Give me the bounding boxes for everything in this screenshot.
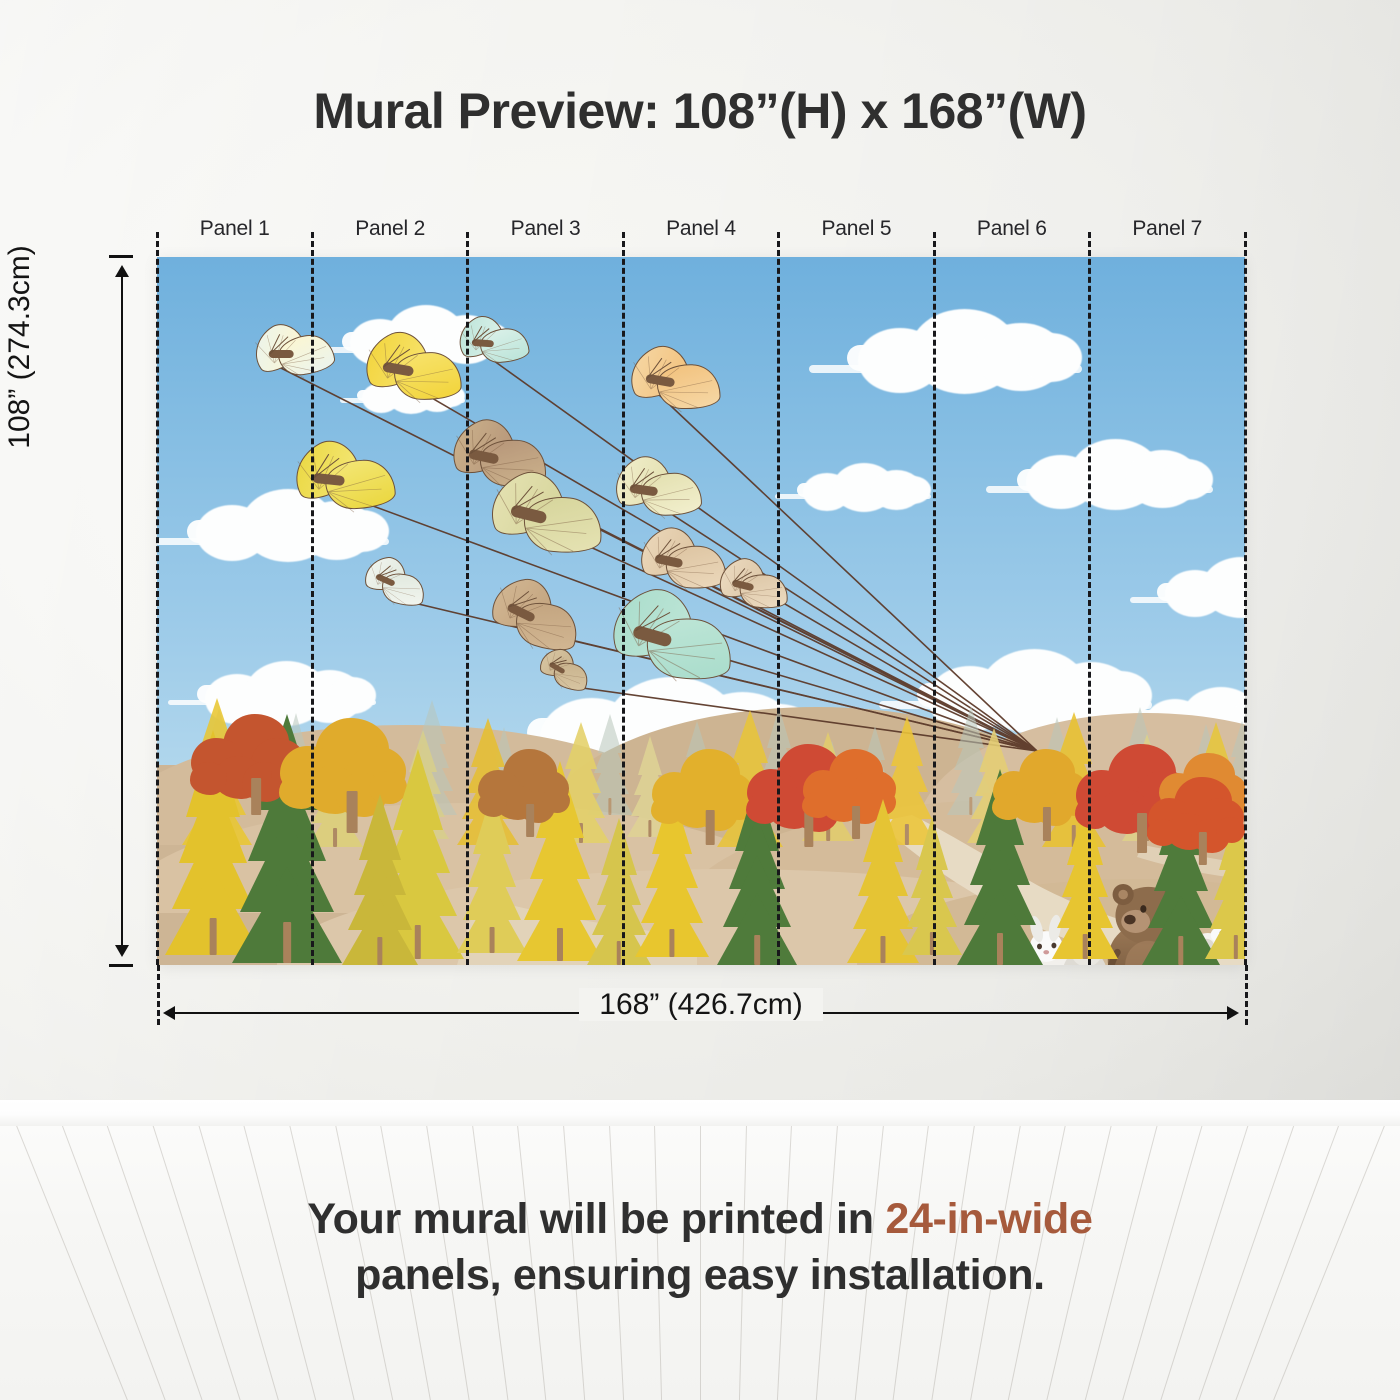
width-dim-extension-left	[157, 965, 160, 1025]
panel-label-row: Panel 1Panel 2Panel 3Panel 4Panel 5Panel…	[157, 212, 1245, 246]
height-dim-cap-top	[109, 255, 133, 258]
panel-label-6: Panel 6	[934, 212, 1089, 246]
footer-caption: Your mural will be printed in 24-in-wide…	[0, 1192, 1400, 1304]
caption-line-1: Your mural will be printed in 24-in-wide	[0, 1192, 1400, 1248]
panel-divider-1	[311, 232, 314, 965]
width-dimension-text: 168” (426.7cm)	[579, 988, 822, 1021]
caption-accent: 24-in-wide	[885, 1195, 1092, 1243]
panel-divider-2	[466, 232, 469, 965]
page-title: Mural Preview: 108”(H) x 168”(W)	[0, 82, 1400, 140]
tree-broadleaf	[487, 741, 573, 837]
height-dim-shaft	[121, 267, 123, 955]
width-dimension-line: 168” (426.7cm)	[157, 1011, 1245, 1015]
baseboard	[0, 1100, 1400, 1126]
butterfly-2	[357, 322, 471, 418]
panel-divider-7	[1244, 232, 1247, 965]
panel-label-3: Panel 3	[468, 212, 623, 246]
butterfly-9	[359, 554, 430, 614]
butterfly-4	[622, 337, 728, 427]
height-dim-arrow-up	[115, 265, 129, 277]
butterfly-13	[715, 555, 793, 619]
mural-preview[interactable]	[157, 257, 1245, 965]
height-dim-cap-bottom	[109, 964, 133, 967]
butterfly-7	[484, 465, 610, 569]
tree-conifer	[342, 790, 418, 965]
width-dim-extension-right	[1245, 965, 1248, 1025]
panel-divider-4	[777, 232, 780, 965]
panel-divider-3	[622, 232, 625, 965]
height-dim-arrow-down	[115, 945, 129, 957]
mural-artwork	[157, 257, 1245, 965]
height-dimension-line	[120, 257, 124, 965]
panel-label-5: Panel 5	[779, 212, 934, 246]
caption-line-1-text: Your mural will be printed in	[307, 1195, 885, 1243]
height-dimension-label: 108” (274.3cm)	[3, 107, 37, 587]
panel-divider-5	[933, 232, 936, 965]
panel-label-2: Panel 2	[312, 212, 467, 246]
panel-label-1: Panel 1	[157, 212, 312, 246]
width-dimension-label: 168” (426.7cm)	[157, 988, 1245, 1022]
panel-label-4: Panel 4	[623, 212, 778, 246]
panel-divider-0	[156, 232, 159, 965]
caption-line-2: panels, ensuring easy installation.	[0, 1248, 1400, 1304]
panel-label-7: Panel 7	[1090, 212, 1245, 246]
tree-broadleaf	[1157, 769, 1245, 865]
panel-divider-6	[1088, 232, 1091, 965]
